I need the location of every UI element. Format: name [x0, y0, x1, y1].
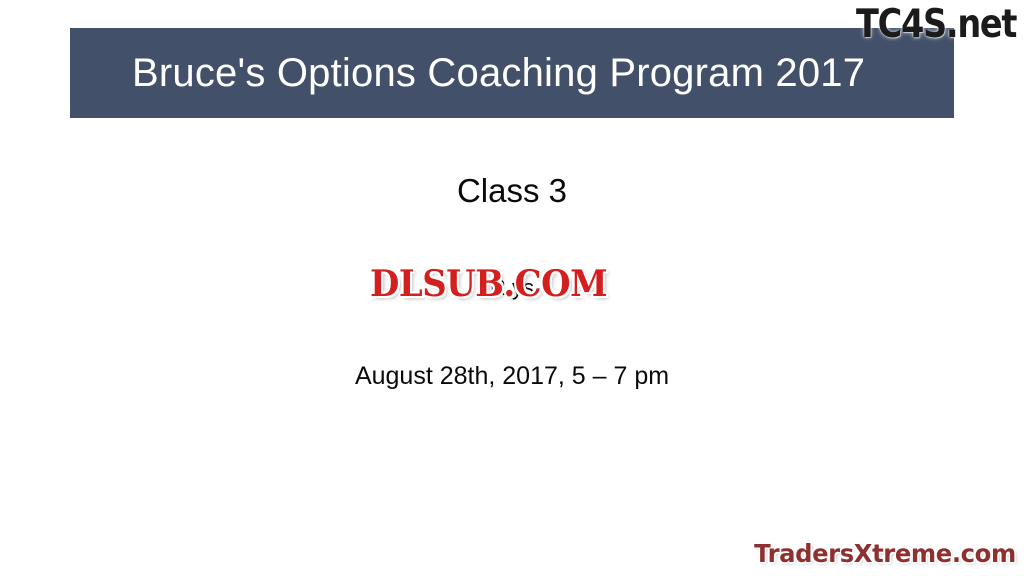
presentation-slide: Bruce's Options Coaching Program 2017 Cl… [0, 0, 1024, 576]
watermark-tradersxtreme: TradersXtreme.com [754, 539, 1016, 568]
datetime-line: August 28th, 2017, 5 – 7 pm [0, 362, 1024, 391]
slide-title: Bruce's Options Coaching Program 2017 [132, 51, 865, 95]
subject-line: R ys [0, 275, 1024, 301]
class-label: Class 3 [0, 172, 1024, 210]
slide-title-bar: Bruce's Options Coaching Program 2017 [70, 28, 954, 118]
